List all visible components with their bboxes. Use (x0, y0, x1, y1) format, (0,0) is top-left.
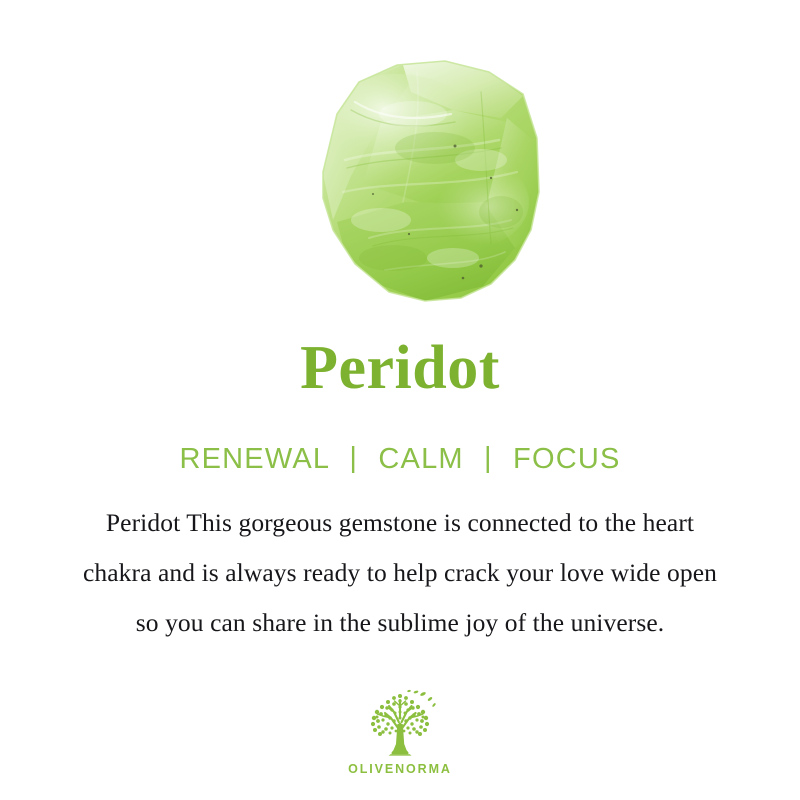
peridot-gemstone-card: Peridot RENEWAL | CALM | FOCUS Peridot T… (0, 0, 800, 800)
keyword-separator: | (338, 439, 369, 477)
tree-of-life-icon (361, 688, 439, 760)
description-line: Peridot This gorgeous gemstone is connec… (20, 498, 780, 548)
description-text: Peridot This gorgeous gemstone is connec… (20, 498, 780, 648)
brand-logo: OLIVENORMA (0, 688, 800, 776)
peridot-raw-crystal-image (285, 52, 545, 310)
brand-name: OLIVENORMA (0, 762, 800, 776)
keyword-calm: CALM (378, 443, 463, 475)
description-line: chakra and is always ready to help crack… (20, 548, 780, 598)
keyword-renewal: RENEWAL (179, 443, 329, 475)
keyword-focus: FOCUS (513, 443, 621, 475)
keywords-row: RENEWAL | CALM | FOCUS (0, 440, 800, 478)
page-title: Peridot (0, 332, 800, 404)
keyword-separator: | (473, 439, 504, 477)
gemstone-image-area (0, 0, 800, 320)
description-line: so you can share in the sublime joy of t… (20, 598, 780, 648)
